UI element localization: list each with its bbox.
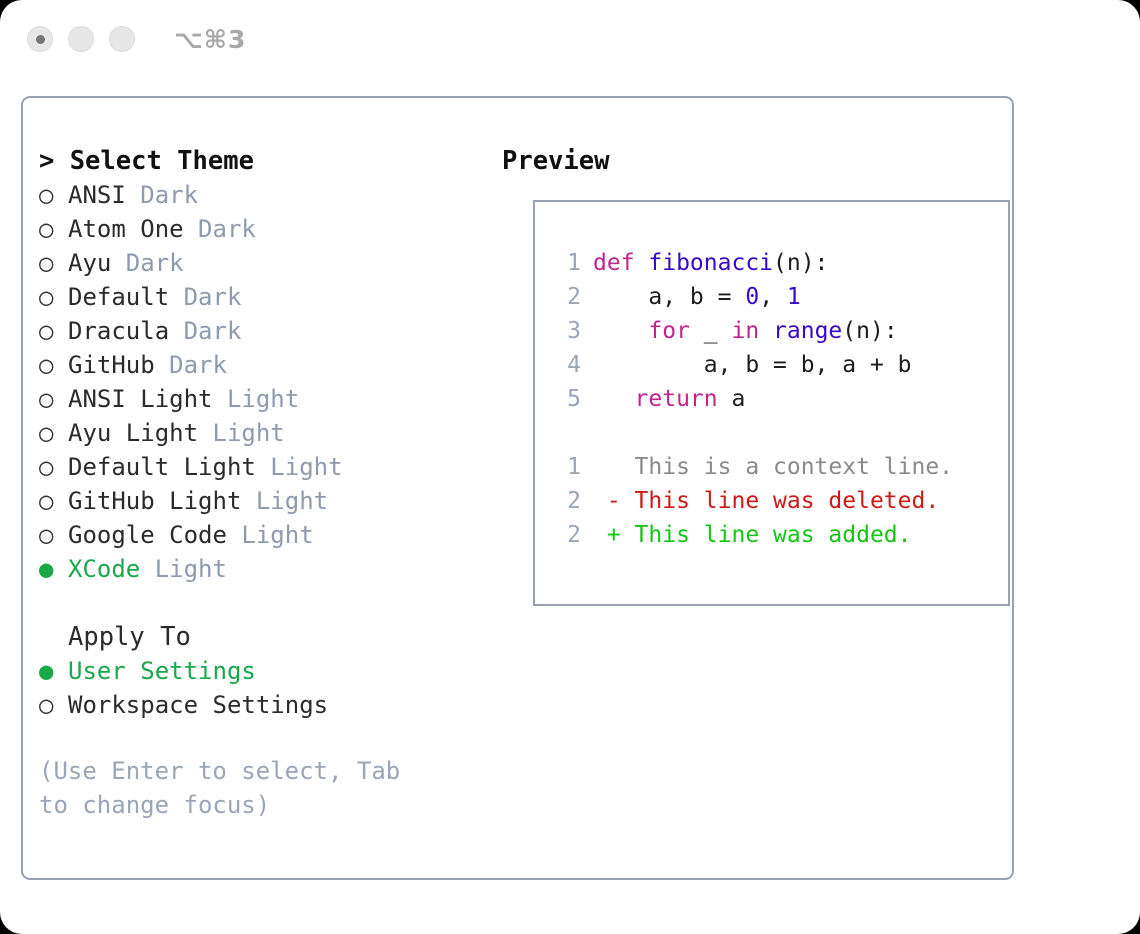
option-label: Ayu	[68, 246, 111, 280]
window-dot-inner	[36, 35, 45, 44]
option-label: ANSI	[68, 178, 126, 212]
radio-unselected-icon: ○	[39, 688, 68, 722]
theme-option-ansi-light[interactable]: ○ANSI Light Light	[39, 382, 479, 416]
token-fn: fibonacci	[648, 250, 773, 276]
theme-option-github[interactable]: ○GitHub Dark	[39, 348, 479, 382]
option-tag: Dark	[155, 348, 227, 382]
diff-row: 2 - This line was deleted.	[555, 484, 953, 518]
option-tag: Dark	[169, 314, 241, 348]
select-theme-header: > Select Theme	[39, 144, 479, 178]
option-tag: Dark	[111, 246, 183, 280]
code-row: 3 for _ in range(n):	[555, 314, 953, 348]
option-label: Workspace Settings	[68, 688, 328, 722]
code-preview-box: 1def fibonacci(n):2 a, b = 0, 13 for _ i…	[533, 200, 1010, 606]
option-tag: Dark	[169, 280, 241, 314]
line-content: for _ in range(n):	[593, 314, 898, 348]
option-tag: Dark	[184, 212, 256, 246]
apply-to-header: Apply To	[39, 620, 479, 654]
preview-column: Preview 1def fibonacci(n):2 a, b = 0, 13…	[502, 144, 1002, 178]
radio-unselected-icon: ○	[39, 314, 68, 348]
line-number: 5	[555, 382, 581, 416]
window-dot-third-icon[interactable]	[109, 26, 135, 52]
theme-option-ayu-light[interactable]: ○Ayu Light Light	[39, 416, 479, 450]
option-tag: Light	[241, 484, 328, 518]
token-kw: def	[593, 250, 648, 276]
option-label: Dracula	[68, 314, 169, 348]
window-dot-second-icon[interactable]	[68, 26, 94, 52]
theme-list: ○ANSI Dark○Atom One Dark○Ayu Dark○Defaul…	[39, 178, 479, 586]
line-content: a, b = b, a + b	[593, 348, 912, 382]
radio-unselected-icon: ○	[39, 178, 68, 212]
token-plain	[759, 318, 773, 344]
keyboard-shortcut-label: ⌥⌘3	[174, 25, 246, 54]
app-window: ⌥⌘3 > Select Theme ○ANSI Dark○Atom One D…	[0, 0, 1140, 934]
theme-option-github-light[interactable]: ○GitHub Light Light	[39, 484, 479, 518]
line-content: return a	[593, 382, 745, 416]
theme-option-google-code[interactable]: ○Google Code Light	[39, 518, 479, 552]
theme-option-ansi[interactable]: ○ANSI Dark	[39, 178, 479, 212]
token-fn: range	[773, 318, 842, 344]
token-plain: a	[718, 386, 746, 412]
preview-header: Preview	[502, 144, 1002, 178]
option-tag: Light	[227, 518, 314, 552]
radio-unselected-icon: ○	[39, 382, 68, 416]
code-row: 1def fibonacci(n):	[555, 246, 953, 280]
title-bar: ⌥⌘3	[0, 0, 1140, 78]
theme-option-atom-one[interactable]: ○Atom One Dark	[39, 212, 479, 246]
token-kw: in	[731, 318, 759, 344]
radio-selected-icon: ●	[39, 552, 68, 586]
token-ctx: This is a context line.	[593, 454, 953, 480]
option-tag: Dark	[126, 178, 198, 212]
radio-unselected-icon: ○	[39, 212, 68, 246]
token-plain: a, b = b, a + b	[593, 352, 912, 378]
token-plain: (n):	[773, 250, 828, 276]
apply-to-block: Apply To ●User Settings○Workspace Settin…	[39, 620, 479, 722]
radio-unselected-icon: ○	[39, 518, 68, 552]
option-label: Google Code	[68, 518, 227, 552]
token-plain: a, b =	[593, 284, 745, 310]
token-del: - This line was deleted.	[593, 488, 939, 514]
code-row: 4 a, b = b, a + b	[555, 348, 953, 382]
token-num: 1	[787, 284, 801, 310]
line-content: This is a context line.	[593, 450, 953, 484]
radio-unselected-icon: ○	[39, 246, 68, 280]
radio-unselected-icon: ○	[39, 280, 68, 314]
diff-row: 2 + This line was added.	[555, 518, 953, 552]
option-label: GitHub Light	[68, 484, 241, 518]
apply-option-user-settings[interactable]: ●User Settings	[39, 654, 479, 688]
line-content: a, b = 0, 1	[593, 280, 801, 314]
radio-unselected-icon: ○	[39, 450, 68, 484]
radio-unselected-icon: ○	[39, 348, 68, 382]
option-tag: Light	[213, 382, 300, 416]
window-dot-active-icon[interactable]	[27, 26, 53, 52]
theme-option-default[interactable]: ○Default Dark	[39, 280, 479, 314]
theme-option-xcode[interactable]: ●XCode Light	[39, 552, 479, 586]
token-plain: ,	[759, 284, 787, 310]
keyboard-hint-text: (Use Enter to select, Tab to change focu…	[39, 754, 439, 822]
option-label: ANSI Light	[68, 382, 213, 416]
token-plain	[593, 386, 635, 412]
option-label: Default Light	[68, 450, 256, 484]
line-number: 1	[555, 246, 581, 280]
token-num: 0	[745, 284, 759, 310]
token-add: + This line was added.	[593, 522, 912, 548]
main-panel: > Select Theme ○ANSI Dark○Atom One Dark○…	[21, 96, 1014, 880]
option-label: Default	[68, 280, 169, 314]
option-label: User Settings	[68, 654, 256, 688]
radio-unselected-icon: ○	[39, 484, 68, 518]
theme-selector-column: > Select Theme ○ANSI Dark○Atom One Dark○…	[39, 144, 479, 822]
option-tag: Light	[198, 416, 285, 450]
line-number: 2	[555, 280, 581, 314]
option-tag: Light	[140, 552, 227, 586]
apply-to-list: ●User Settings○Workspace Settings	[39, 654, 479, 722]
line-content: def fibonacci(n):	[593, 246, 828, 280]
token-kw: return	[635, 386, 718, 412]
code-diff-separator	[555, 416, 953, 450]
code-row: 2 a, b = 0, 1	[555, 280, 953, 314]
apply-option-workspace-settings[interactable]: ○Workspace Settings	[39, 688, 479, 722]
line-number: 3	[555, 314, 581, 348]
option-label: Ayu Light	[68, 416, 198, 450]
theme-option-dracula[interactable]: ○Dracula Dark	[39, 314, 479, 348]
line-number: 2	[555, 518, 581, 552]
option-label: GitHub	[68, 348, 155, 382]
radio-unselected-icon: ○	[39, 416, 68, 450]
line-content: + This line was added.	[593, 518, 912, 552]
option-label: Atom One	[68, 212, 184, 246]
code-sample: 1def fibonacci(n):2 a, b = 0, 13 for _ i…	[555, 246, 953, 552]
radio-selected-icon: ●	[39, 654, 68, 688]
option-label: XCode	[68, 552, 140, 586]
token-plain: _	[690, 318, 732, 344]
line-number: 4	[555, 348, 581, 382]
token-kw: for	[648, 318, 690, 344]
token-plain	[593, 318, 648, 344]
code-row: 5 return a	[555, 382, 953, 416]
theme-option-ayu[interactable]: ○Ayu Dark	[39, 246, 479, 280]
line-number: 2	[555, 484, 581, 518]
theme-option-default-light[interactable]: ○Default Light Light	[39, 450, 479, 484]
diff-row: 1 This is a context line.	[555, 450, 953, 484]
line-content: - This line was deleted.	[593, 484, 939, 518]
token-plain: (n):	[842, 318, 897, 344]
line-number: 1	[555, 450, 581, 484]
option-tag: Light	[256, 450, 343, 484]
